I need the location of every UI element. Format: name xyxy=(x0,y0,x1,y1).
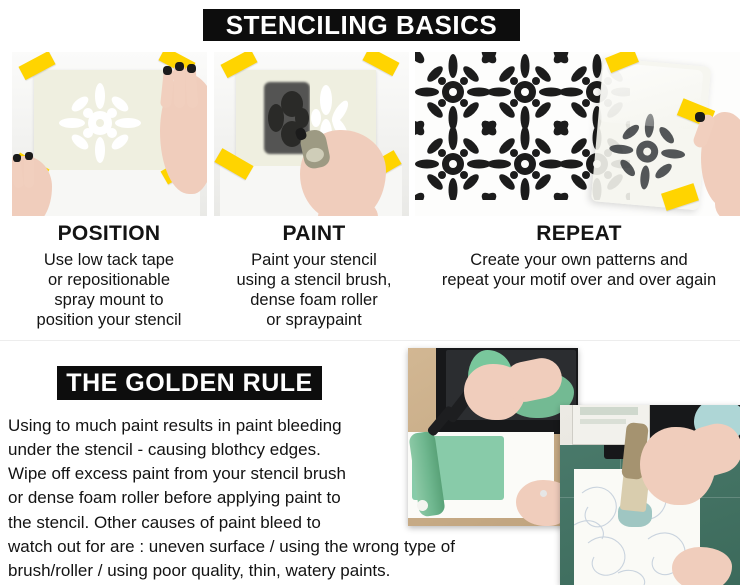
caption-body-position: Use low tack tape or repositionable spra… xyxy=(4,250,214,331)
nail xyxy=(187,64,196,73)
nail xyxy=(13,154,21,162)
page-title: STENCILING BASICS xyxy=(203,9,520,41)
caption-heading-position: POSITION xyxy=(4,222,214,246)
caption-line: Create your own patterns and xyxy=(470,251,687,269)
caption-heading-repeat: REPEAT xyxy=(418,222,740,246)
ring xyxy=(540,490,547,497)
caption-heading-paint: PAINT xyxy=(214,222,414,246)
caption-position: POSITION Use low tack tape or reposition… xyxy=(4,222,214,331)
caption-line: Use low tack tape xyxy=(44,251,174,269)
nail xyxy=(695,112,705,122)
wrist xyxy=(318,202,378,216)
caption-paint: PAINT Paint your stencil using a stencil… xyxy=(214,222,414,331)
nail xyxy=(175,62,184,71)
section-divider xyxy=(0,340,740,341)
caption-line: Paint your stencil xyxy=(251,251,377,269)
caption-line: using a stencil brush, xyxy=(236,271,391,289)
nail xyxy=(25,152,33,160)
step-photo-repeat xyxy=(415,52,740,216)
golden-rule-title: THE GOLDEN RULE xyxy=(57,366,322,400)
golden-rule-photos xyxy=(408,348,740,585)
package-label xyxy=(580,407,638,415)
stencil-sheen xyxy=(599,62,704,130)
caption-body-paint: Paint your stencil using a stencil brush… xyxy=(214,250,414,331)
stencil-motif-white xyxy=(52,80,148,166)
step-photo-position xyxy=(12,52,207,216)
caption-repeat: REPEAT Create your own patterns and repe… xyxy=(418,222,740,290)
hand-steadying-paper xyxy=(672,547,732,585)
infographic-page: STENCILING BASICS xyxy=(0,0,740,585)
nail xyxy=(163,66,172,75)
step-photo-paint xyxy=(214,52,409,216)
photo-foam-roller xyxy=(408,348,578,526)
wrist xyxy=(715,172,740,216)
caption-line: position your stencil xyxy=(37,311,182,329)
package-label xyxy=(580,419,626,424)
caption-line: or repositionable xyxy=(48,271,170,289)
photo-stencil-brush xyxy=(560,405,740,585)
caption-line: or spraypaint xyxy=(266,311,361,329)
caption-line: spray mount to xyxy=(54,291,163,309)
caption-line: dense foam roller xyxy=(250,291,377,309)
caption-line: repeat your motif over and over again xyxy=(442,271,716,289)
caption-body-repeat: Create your own patterns and repeat your… xyxy=(418,250,740,290)
